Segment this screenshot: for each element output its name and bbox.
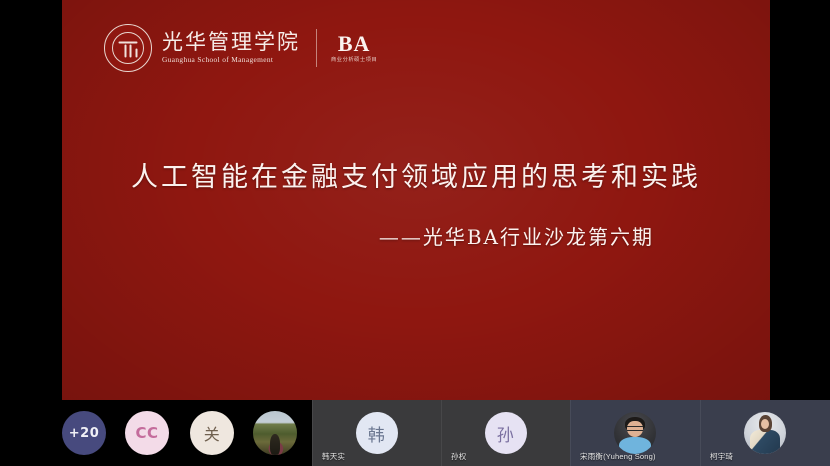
gallery-overflow-tile[interactable]: +20 CC 关 bbox=[0, 400, 312, 466]
avatar-initials: 孙 bbox=[497, 421, 515, 446]
avatar-photo-icon bbox=[744, 412, 786, 454]
participant-name: 韩天实 bbox=[322, 452, 345, 462]
avatar[interactable]: 韩 bbox=[356, 412, 398, 454]
tile-divider bbox=[570, 400, 571, 466]
avatar[interactable] bbox=[744, 412, 786, 454]
avatar-overflow-count[interactable]: +20 bbox=[62, 411, 106, 455]
participant-tile-ke[interactable]: 柯宇琦 bbox=[700, 400, 830, 466]
guanghua-ba-logo-lockup: 光华管理学院 Guanghua School of Management BA … bbox=[104, 22, 377, 74]
school-name-cn: 光华管理学院 bbox=[162, 31, 300, 53]
tile-divider bbox=[312, 400, 313, 466]
program-abbr: BA bbox=[338, 32, 371, 55]
participant-tile-han[interactable]: 韩 韩天实 bbox=[312, 400, 441, 466]
peking-university-seal-icon bbox=[104, 24, 152, 72]
participant-name: 柯宇琦 bbox=[710, 452, 733, 462]
avatar-initials: +20 bbox=[69, 426, 99, 441]
tile-divider bbox=[441, 400, 442, 466]
participant-tile-sun[interactable]: 孙 孙权 bbox=[441, 400, 570, 466]
avatar-guan[interactable]: 关 bbox=[190, 411, 234, 455]
slide-title: 人工智能在金融支付领域应用的思考和实践 bbox=[62, 160, 770, 196]
avatar-cc[interactable]: CC bbox=[125, 411, 169, 455]
school-name-en: Guanghua School of Management bbox=[162, 55, 300, 65]
video-conference-screen: 光华管理学院 Guanghua School of Management BA … bbox=[0, 0, 830, 466]
participant-tile-song[interactable]: 宋雨衡(Yuheng Song) bbox=[570, 400, 700, 466]
avatar-photo-landscape[interactable] bbox=[253, 411, 297, 455]
avatar-initials: 关 bbox=[204, 421, 221, 445]
program-name-cn: 商业分析硕士项目 bbox=[331, 56, 377, 64]
avatar-initials: CC bbox=[135, 424, 158, 442]
participant-name: 孙权 bbox=[451, 452, 466, 462]
avatar-initials: 韩 bbox=[368, 421, 386, 446]
avatar[interactable]: 孙 bbox=[485, 412, 527, 454]
avatar[interactable] bbox=[614, 412, 656, 454]
tile-divider bbox=[700, 400, 701, 466]
avatar-photo-icon bbox=[614, 412, 656, 454]
ba-program-block: BA 商业分析硕士项目 bbox=[331, 32, 377, 64]
slide-subtitle: ——光华BA行业沙龙第六期 bbox=[379, 222, 654, 252]
shared-screen-stage[interactable]: 光华管理学院 Guanghua School of Management BA … bbox=[0, 0, 830, 400]
logo-divider bbox=[316, 29, 317, 67]
school-name-block: 光华管理学院 Guanghua School of Management bbox=[162, 31, 300, 65]
participant-name: 宋雨衡(Yuheng Song) bbox=[580, 452, 656, 462]
participant-filmstrip: +20 CC 关 韩 韩天实 孙 孙权 bbox=[0, 400, 830, 466]
avatar-photo-icon bbox=[253, 411, 297, 455]
presentation-slide: 光华管理学院 Guanghua School of Management BA … bbox=[62, 0, 770, 400]
